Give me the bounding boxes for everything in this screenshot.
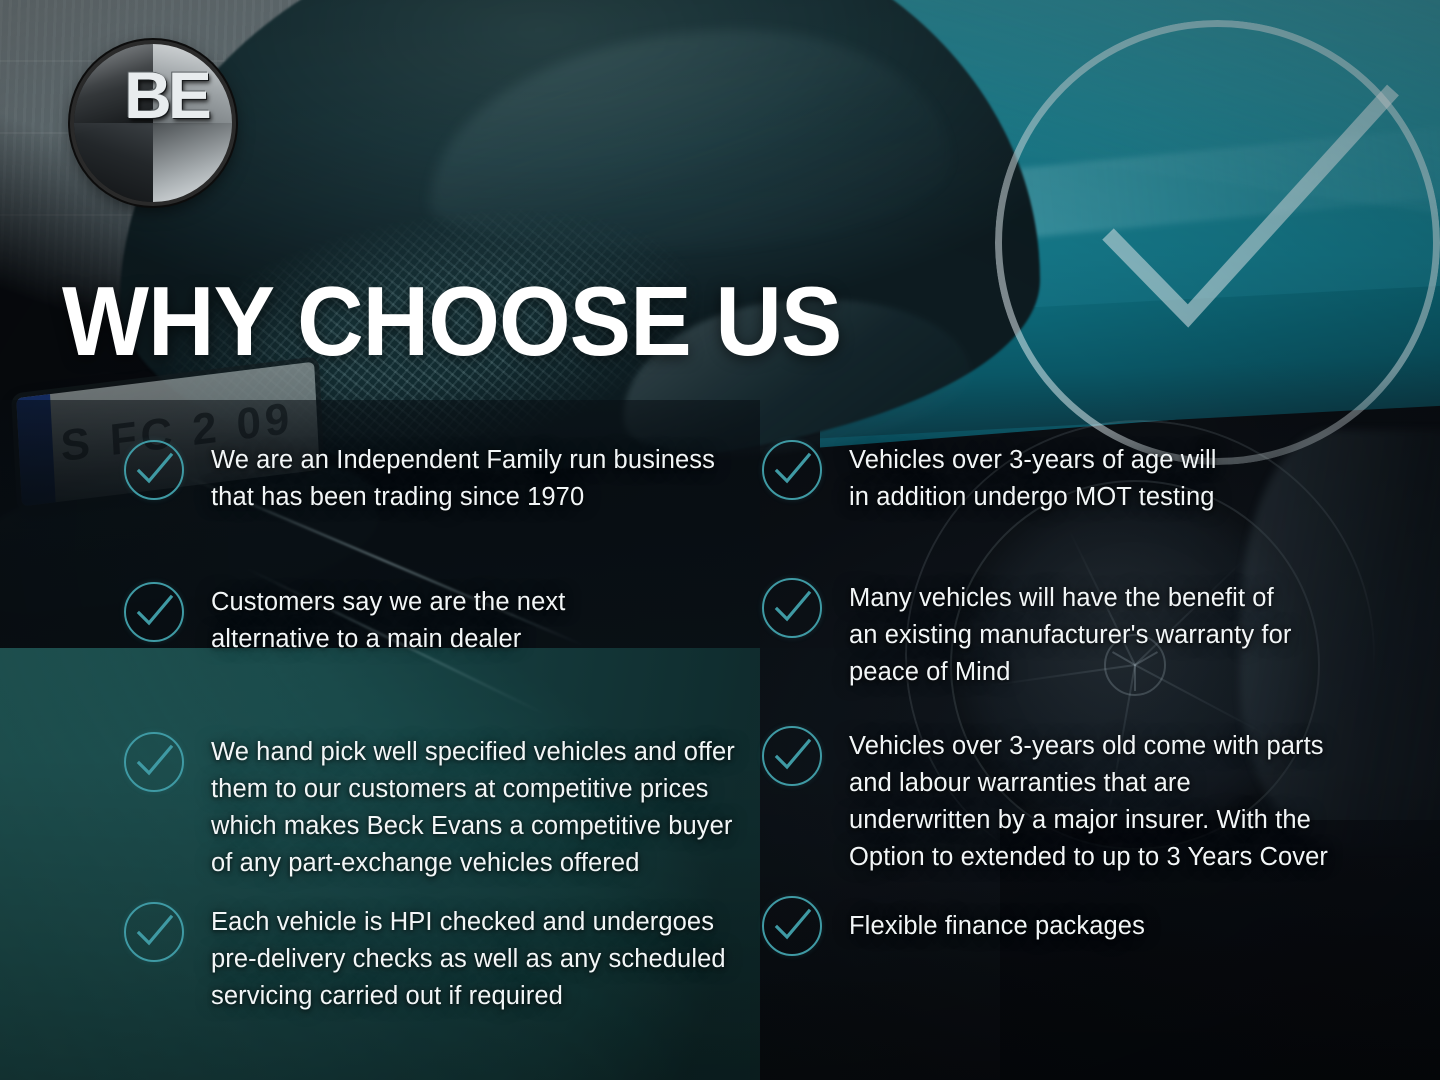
- benefit-item: We hand pick well specified vehicles and…: [124, 732, 735, 882]
- check-circle-icon: [124, 582, 184, 642]
- benefit-text-line: Customers say we are the next: [211, 584, 565, 621]
- benefit-text-line: Option to extended to up to 3 Years Cove…: [849, 839, 1328, 876]
- benefit-text: Flexible finance packages: [849, 896, 1145, 945]
- benefit-text-line: Vehicles over 3-years of age will: [849, 442, 1217, 479]
- benefit-text-line: pre-delivery checks as well as any sched…: [211, 941, 726, 978]
- benefit-text-line: underwritten by a major insurer. With th…: [849, 802, 1328, 839]
- benefit-text-line: Flexible finance packages: [849, 908, 1145, 945]
- benefit-text-line: alternative to a main dealer: [211, 621, 565, 658]
- benefit-text-line: Many vehicles will have the benefit of: [849, 580, 1291, 617]
- benefit-text-line: and labour warranties that are: [849, 765, 1328, 802]
- check-circle-icon: [124, 902, 184, 962]
- benefit-text: Many vehicles will have the benefit ofan…: [849, 578, 1291, 691]
- benefit-text-line: which makes Beck Evans a competitive buy…: [211, 808, 735, 845]
- check-circle-icon: [762, 440, 822, 500]
- benefit-text-line: them to our customers at competitive pri…: [211, 771, 735, 808]
- benefit-text: Vehicles over 3-years of age willin addi…: [849, 440, 1217, 516]
- benefit-text-line: an existing manufacturer's warranty for: [849, 617, 1291, 654]
- beck-evans-logo[interactable]: BE: [74, 44, 232, 202]
- benefit-text-line: Each vehicle is HPI checked and undergoe…: [211, 904, 726, 941]
- benefit-text: We hand pick well specified vehicles and…: [211, 732, 735, 882]
- benefit-text: Vehicles over 3-years old come with part…: [849, 726, 1328, 876]
- benefit-text-line: Vehicles over 3-years old come with part…: [849, 728, 1328, 765]
- check-circle-icon: [762, 726, 822, 786]
- benefit-text-line: in addition undergo MOT testing: [849, 479, 1217, 516]
- logo-text: BE: [87, 44, 232, 202]
- benefit-text-line: peace of Mind: [849, 654, 1291, 691]
- check-circle-icon: [124, 732, 184, 792]
- benefit-text-line: We are an Independent Family run busines…: [211, 442, 715, 479]
- benefit-item: Vehicles over 3-years old come with part…: [762, 726, 1328, 876]
- benefit-item: Each vehicle is HPI checked and undergoe…: [124, 902, 726, 1015]
- benefit-text-line: that has been trading since 1970: [211, 479, 715, 516]
- benefit-text: Customers say we are the nextalternative…: [211, 582, 565, 658]
- benefit-item: Customers say we are the nextalternative…: [124, 582, 565, 658]
- benefit-item: Flexible finance packages: [762, 896, 1145, 956]
- benefit-item: Vehicles over 3-years of age willin addi…: [762, 440, 1217, 516]
- check-circle-icon: [124, 440, 184, 500]
- benefit-text-line: servicing carried out if required: [211, 978, 726, 1015]
- benefit-text: We are an Independent Family run busines…: [211, 440, 715, 516]
- benefit-text-line: of any part-exchange vehicles offered: [211, 845, 735, 882]
- check-circle-icon: [762, 578, 822, 638]
- page-title: WHY CHOOSE US: [62, 272, 841, 370]
- benefit-item: Many vehicles will have the benefit ofan…: [762, 578, 1291, 691]
- benefit-text-line: We hand pick well specified vehicles and…: [211, 734, 735, 771]
- benefit-text: Each vehicle is HPI checked and undergoe…: [211, 902, 726, 1015]
- benefit-item: We are an Independent Family run busines…: [124, 440, 715, 516]
- check-circle-icon: [762, 896, 822, 956]
